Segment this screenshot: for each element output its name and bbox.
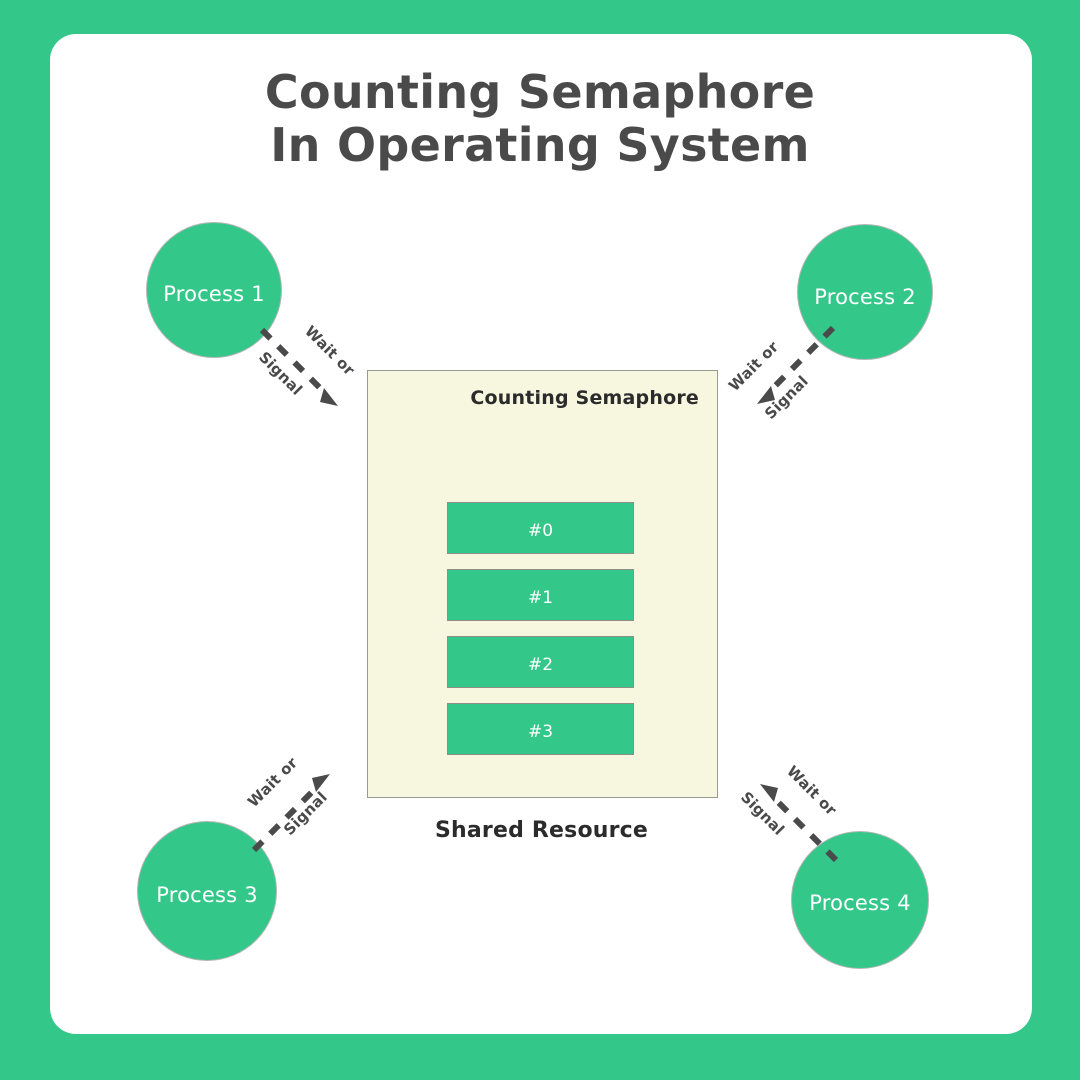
process-node-3-label: Process 3 bbox=[156, 883, 258, 907]
process-node-4-label: Process 4 bbox=[809, 891, 911, 915]
process-node-2-label: Process 2 bbox=[814, 285, 916, 309]
connector-1-label-line1: Wait or bbox=[301, 322, 358, 379]
semaphore-slot[interactable]: #1 bbox=[447, 569, 634, 621]
semaphore-slot-label: #1 bbox=[528, 588, 553, 608]
semaphore-slot-label: #0 bbox=[528, 521, 553, 541]
connector-process-3: Wait or Signal bbox=[240, 742, 370, 872]
process-node-1-label: Process 1 bbox=[163, 282, 265, 306]
connector-3-label-line1: Wait or bbox=[244, 753, 301, 810]
connector-1-label-line2: Signal bbox=[255, 348, 306, 399]
connector-4-label-line1: Wait or bbox=[783, 762, 840, 819]
semaphore-slot[interactable]: #2 bbox=[447, 636, 634, 688]
arrowhead-icon bbox=[760, 784, 778, 802]
semaphore-slot-list: #0 #1 #2 #3 bbox=[447, 502, 632, 770]
semaphore-box-title: Counting Semaphore bbox=[470, 387, 699, 409]
connector-4-label-line2: Signal bbox=[737, 788, 788, 839]
semaphore-slot[interactable]: #3 bbox=[447, 703, 634, 755]
shared-resource-label: Shared Resource bbox=[367, 818, 716, 843]
semaphore-slot[interactable]: #0 bbox=[447, 502, 634, 554]
semaphore-box: Counting Semaphore #0 #1 #2 #3 bbox=[367, 370, 718, 798]
connector-process-1: Wait or Signal bbox=[252, 318, 382, 448]
connector-process-2: Wait or Signal bbox=[723, 320, 853, 450]
diagram-canvas: Counting Semaphore In Operating System P… bbox=[0, 0, 1080, 1080]
page-title: Counting Semaphore In Operating System bbox=[0, 66, 1080, 172]
connector-process-4: Wait or Signal bbox=[730, 750, 860, 880]
semaphore-slot-label: #3 bbox=[528, 722, 553, 742]
semaphore-slot-label: #2 bbox=[528, 655, 553, 675]
connector-2-label-line1: Wait or bbox=[725, 337, 782, 394]
arrowhead-icon bbox=[320, 388, 338, 406]
arrowhead-icon bbox=[312, 774, 330, 792]
